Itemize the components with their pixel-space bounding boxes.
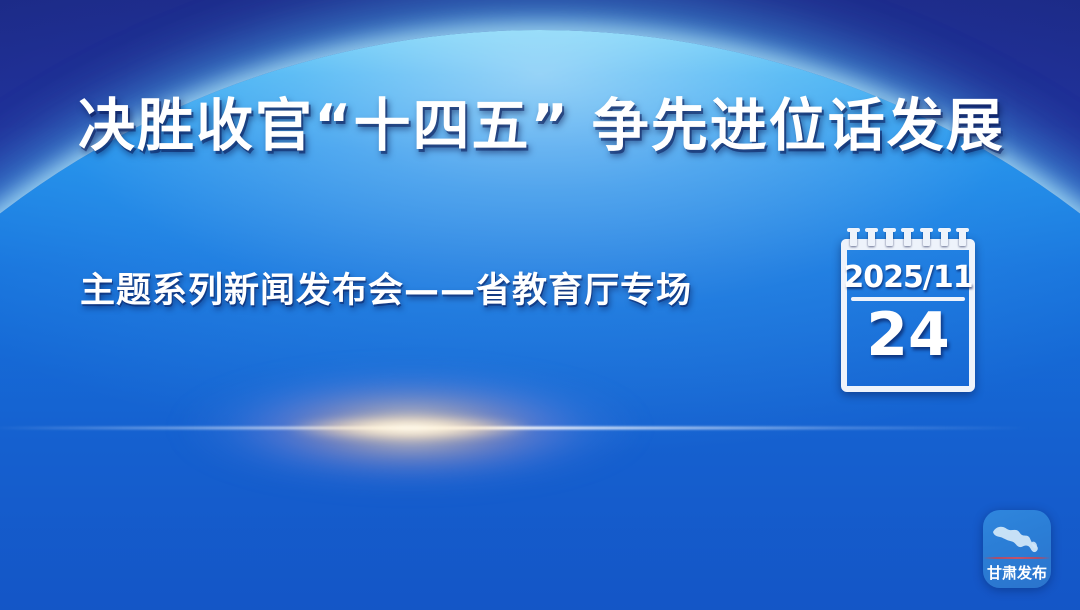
logo-divider (983, 557, 1051, 559)
calendar-ring-icon (886, 228, 893, 246)
calendar-widget: 2025/11 24 (841, 228, 975, 392)
page-subtitle: 主题系列新闻发布会——省教育厅专场 (80, 262, 692, 313)
calendar-month-label: 2025/11 (841, 260, 975, 295)
calendar-binding-rings (850, 228, 966, 246)
calendar-ring-icon (923, 228, 930, 246)
logo-label: 甘肃发布 (983, 562, 1051, 583)
calendar-ring-icon (941, 228, 948, 246)
page-title: 决胜收官“十四五” 争先进位话发展 (78, 96, 938, 158)
brand-logo-badge[interactable]: 甘肃发布 (983, 510, 1051, 588)
title-block: 决胜收官“十四五” 争先进位话发展 (78, 96, 938, 158)
calendar-ring-icon (868, 228, 875, 246)
calendar-ring-icon (959, 228, 966, 246)
calendar-day-label: 24 (841, 305, 975, 365)
calendar-ring-icon (850, 228, 857, 246)
calendar-ring-icon (904, 228, 911, 246)
poster-canvas: 决胜收官“十四五” 争先进位话发展 主题系列新闻发布会——省教育厅专场 2025… (0, 0, 1080, 610)
gansu-province-map-icon (989, 517, 1045, 557)
